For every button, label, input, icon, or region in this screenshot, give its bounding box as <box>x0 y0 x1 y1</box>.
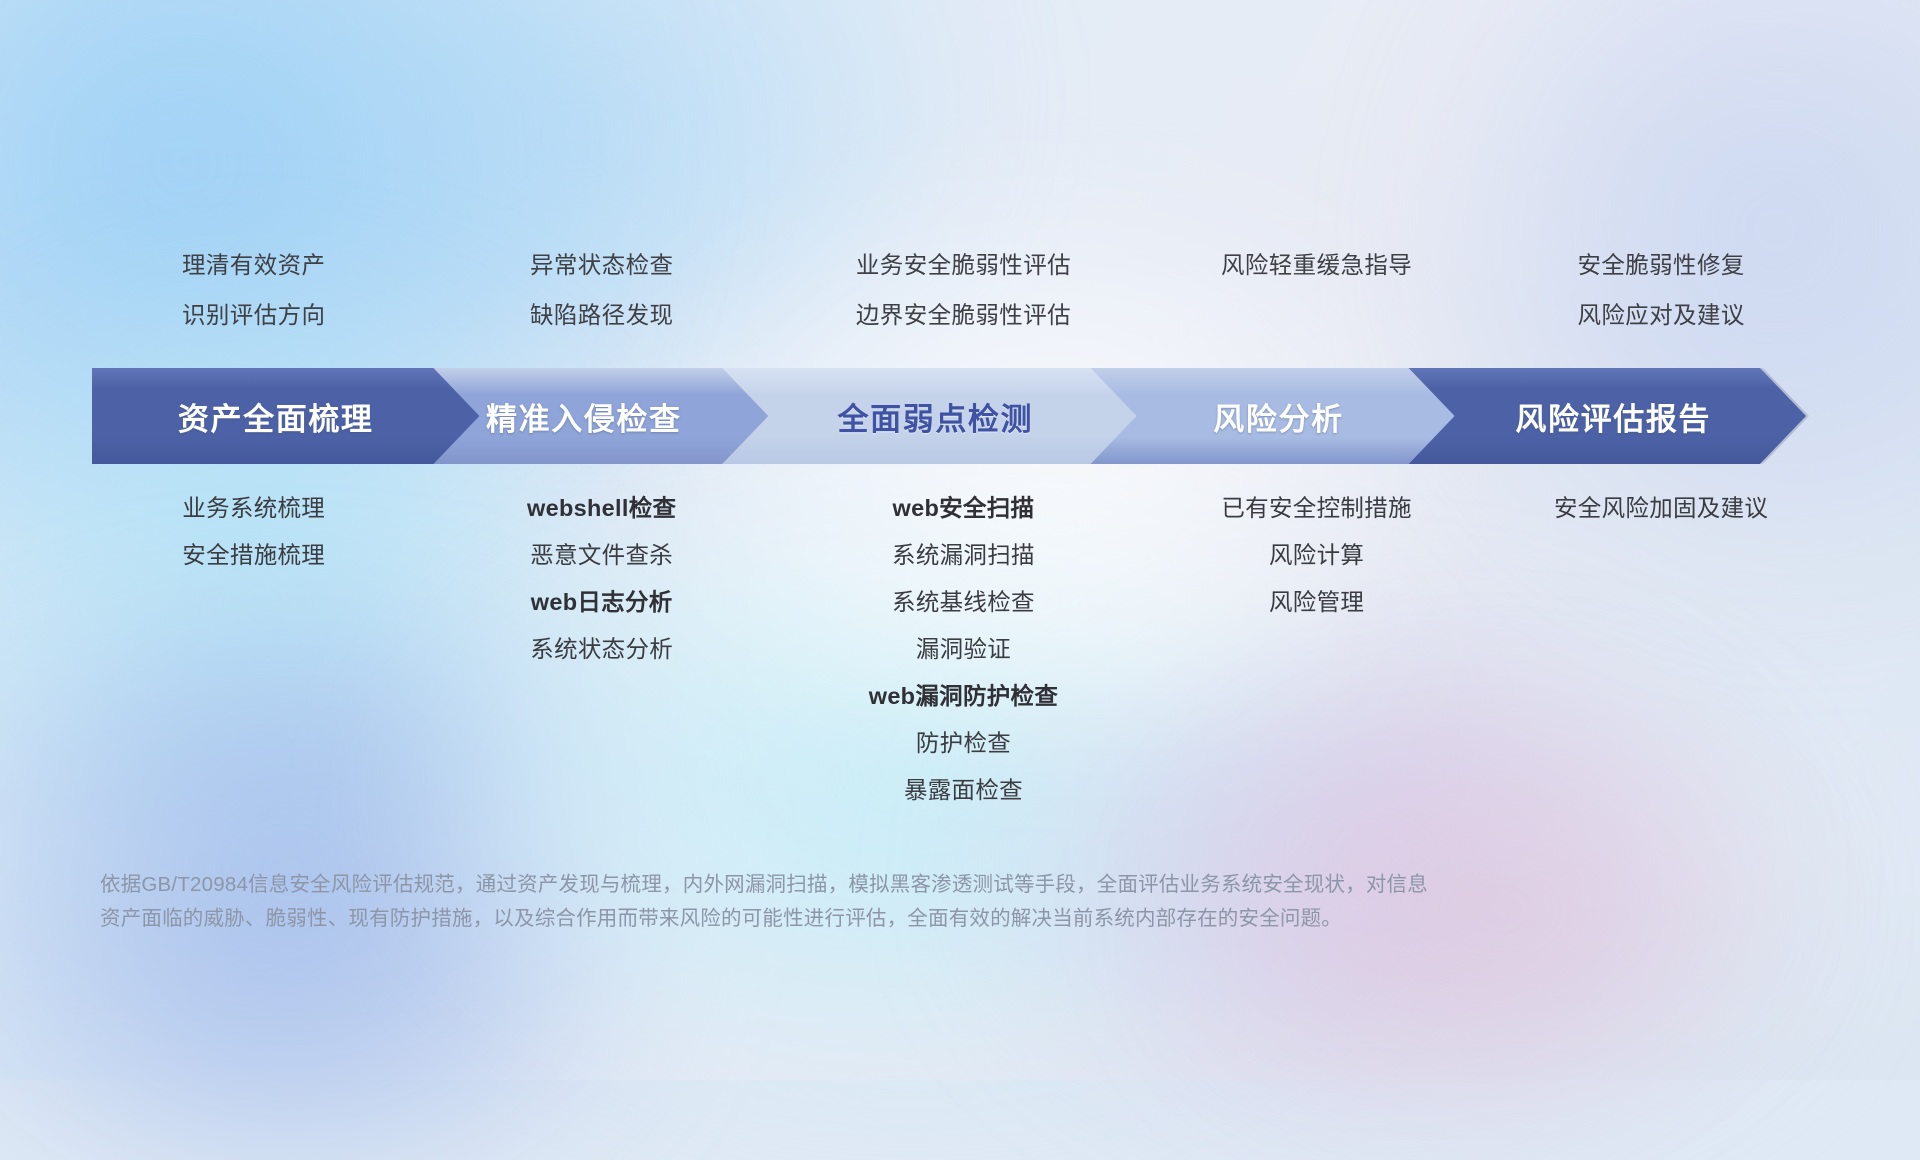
bottom-point: 安全风险加固及建议 <box>1554 485 1768 532</box>
bottom-point: 漏洞验证 <box>916 626 1011 673</box>
bottom-point: 业务系统梳理 <box>182 485 325 532</box>
stage-risk-report-chevron[interactable]: 风险评估报告 <box>1408 368 1806 464</box>
stage-risk-analysis-label: 风险分析 <box>1213 394 1343 439</box>
bottom-point: 系统状态分析 <box>530 626 673 673</box>
bottom-point: 安全措施梳理 <box>182 532 325 579</box>
bottom-point: 系统漏洞扫描 <box>892 532 1035 579</box>
top-point: 理清有效资产 <box>182 240 325 290</box>
stage-risk-report-label: 风险评估报告 <box>1515 394 1711 439</box>
bottom-point: web安全扫描 <box>893 485 1035 532</box>
bottom-point: 风险管理 <box>1269 579 1364 626</box>
footer-line-2: 资产面临的威胁、脆弱性、现有防护措施，以及综合作用而带来风险的可能性进行评估，全… <box>100 902 1740 936</box>
bottom-point: 已有安全控制措施 <box>1221 485 1411 532</box>
infographic-root: 理清有效资产识别评估方向异常状态检查缺陷路径发现业务安全脆弱性评估边界安全脆弱性… <box>0 0 1920 1080</box>
top-point: 安全脆弱性修复 <box>1577 240 1744 290</box>
stage-risk-analysis-chevron[interactable]: 风险分析 <box>1090 368 1454 464</box>
stage-asset-inventory-chevron[interactable]: 资产全面梳理 <box>92 368 479 464</box>
top-descriptions-row: 理清有效资产识别评估方向异常状态检查缺陷路径发现业务安全脆弱性评估边界安全脆弱性… <box>78 240 1842 370</box>
stage-risk-analysis-bottom-points: 已有安全控制措施风险计算风险管理 <box>1153 485 1480 814</box>
bottom-point: 系统基线检查 <box>892 579 1035 626</box>
top-point: 异常状态检查 <box>530 240 673 290</box>
bottom-point: web漏洞防护检查 <box>869 673 1058 720</box>
stage-weakness-detection-label: 全面弱点检测 <box>838 394 1034 439</box>
stage-intrusion-check-bottom-points: webshell检查恶意文件查杀web日志分析系统状态分析 <box>429 485 774 814</box>
top-point: 业务安全脆弱性评估 <box>856 240 1071 290</box>
bottom-point: webshell检查 <box>527 485 676 532</box>
stage-weakness-detection-bottom-points: web安全扫描系统漏洞扫描系统基线检查漏洞验证web漏洞防护检查防护检查暴露面检… <box>774 485 1153 814</box>
process-chevron-banner: 资产全面梳理精准入侵检查全面弱点检测风险分析风险评估报告 <box>92 368 1806 464</box>
top-point: 风险轻重缓急指导 <box>1221 240 1412 290</box>
bottom-point: 恶意文件查杀 <box>530 532 673 579</box>
footer-line-1: 依据GB/T20984信息安全风险评估规范，通过资产发现与梳理，内外网漏洞扫描，… <box>100 868 1740 902</box>
stage-asset-inventory-top-points: 理清有效资产识别评估方向 <box>78 240 429 370</box>
stage-weakness-detection-top-points: 业务安全脆弱性评估边界安全脆弱性评估 <box>774 240 1153 370</box>
top-point: 识别评估方向 <box>182 290 325 340</box>
bottom-point: web日志分析 <box>531 579 673 626</box>
top-point: 边界安全脆弱性评估 <box>856 290 1071 340</box>
bottom-activities-row: 业务系统梳理安全措施梳理webshell检查恶意文件查杀web日志分析系统状态分… <box>78 485 1842 814</box>
stage-risk-report-top-points: 安全脆弱性修复风险应对及建议 <box>1480 240 1842 370</box>
stage-intrusion-check-top-points: 异常状态检查缺陷路径发现 <box>429 240 774 370</box>
stage-weakness-detection-chevron[interactable]: 全面弱点检测 <box>722 368 1136 464</box>
stage-risk-analysis-top-points: 风险轻重缓急指导 <box>1153 240 1480 370</box>
stage-asset-inventory-bottom-points: 业务系统梳理安全措施梳理 <box>78 485 429 814</box>
footer-description: 依据GB/T20984信息安全风险评估规范，通过资产发现与梳理，内外网漏洞扫描，… <box>100 868 1740 936</box>
stage-risk-report-bottom-points: 安全风险加固及建议 <box>1480 485 1842 814</box>
stage-intrusion-check-label: 精准入侵检查 <box>486 394 682 439</box>
top-point: 缺陷路径发现 <box>530 290 673 340</box>
bottom-point: 暴露面检查 <box>904 767 1023 814</box>
top-point: 风险应对及建议 <box>1577 290 1744 340</box>
bottom-point: 风险计算 <box>1269 532 1364 579</box>
stage-asset-inventory-label: 资产全面梳理 <box>178 394 374 439</box>
bottom-point: 防护检查 <box>916 720 1011 767</box>
